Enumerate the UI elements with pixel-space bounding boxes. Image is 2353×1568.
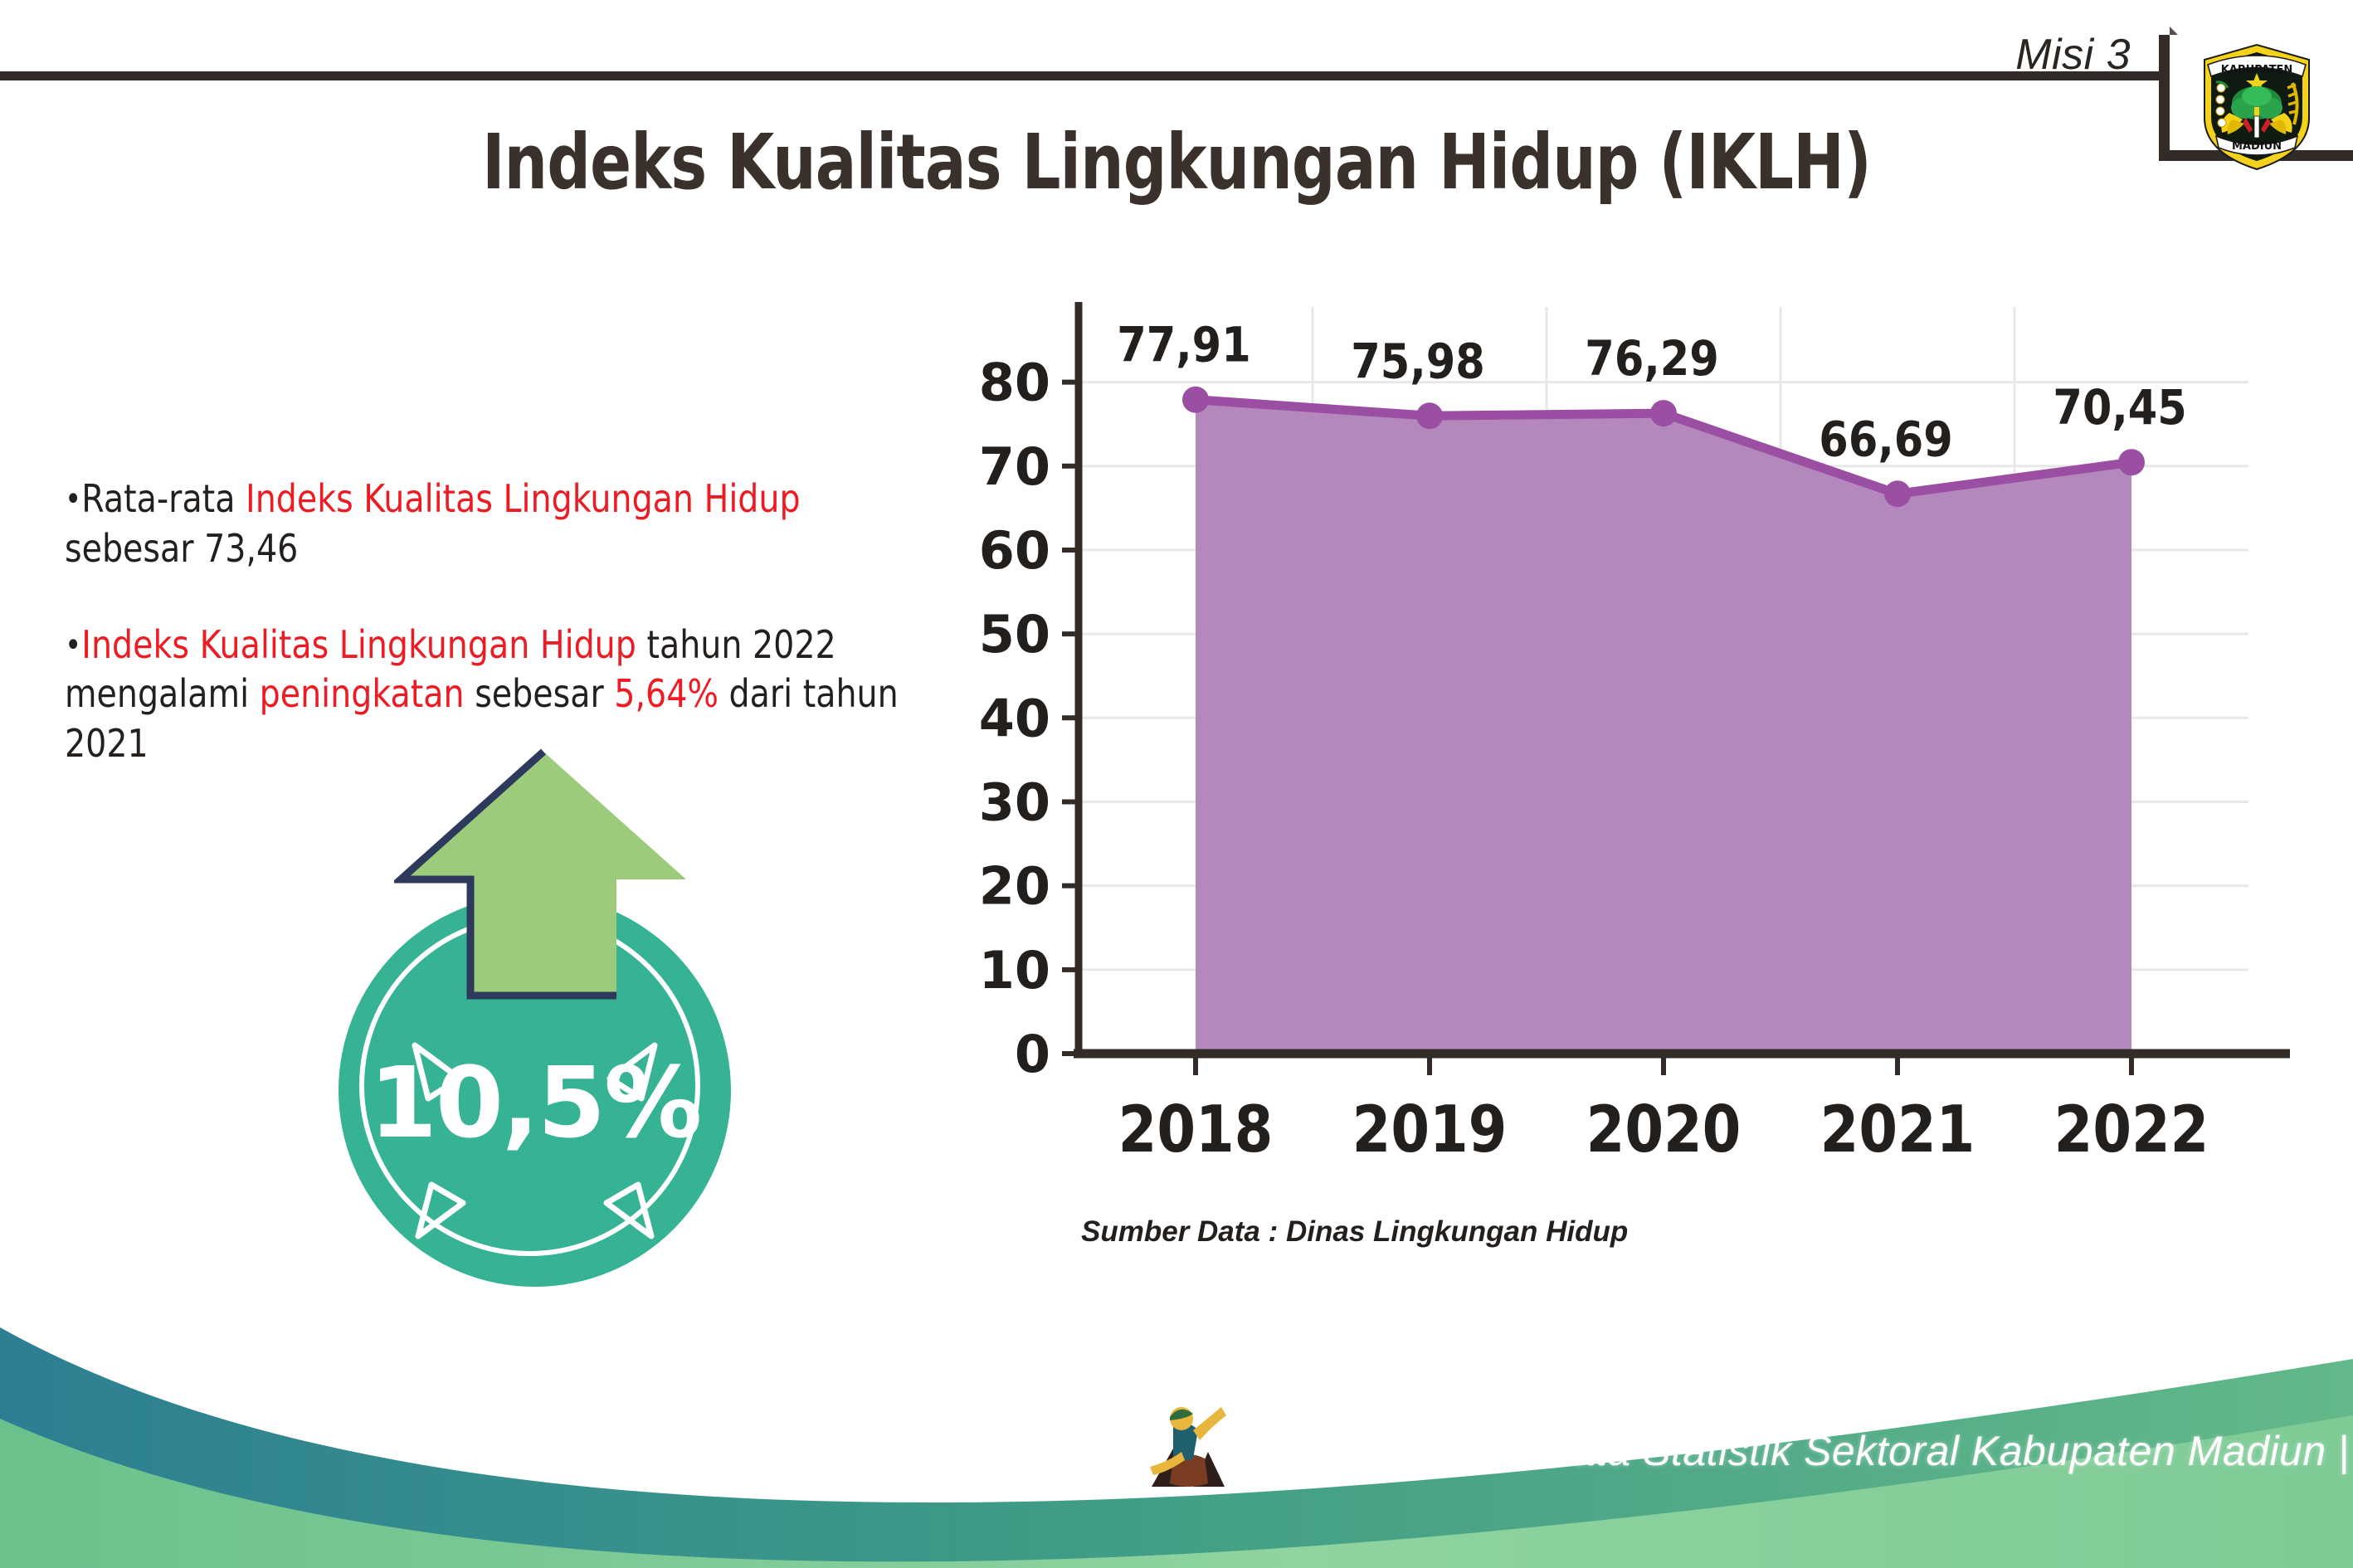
chart-data-label: 66,69 bbox=[1819, 411, 1952, 467]
header-divider-line bbox=[0, 71, 2169, 80]
bullet-item: •Rata-rata Indeks Kualitas Lingkungan Hi… bbox=[65, 475, 907, 574]
chart-data-label: 76,29 bbox=[1585, 330, 1718, 387]
chart-y-tick-label: 60 bbox=[979, 520, 1050, 581]
chart-y-tick-label: 10 bbox=[979, 940, 1050, 1001]
chart-point-marker bbox=[1650, 400, 1677, 426]
chart-point-marker bbox=[1182, 387, 1209, 413]
chart-y-tick-label: 0 bbox=[1015, 1024, 1050, 1084]
chart-x-tick-label: 2018 bbox=[1118, 1092, 1274, 1167]
footer-caption: Media Infografis Data Statistik Sektoral… bbox=[1228, 1427, 2350, 1475]
footer-wave: Media Infografis Data Statistik Sektoral… bbox=[0, 1294, 2353, 1568]
chart-point-marker bbox=[2118, 449, 2145, 475]
bullet-text-segment: peningkatan bbox=[260, 671, 465, 716]
chart-data-label: 77,91 bbox=[1117, 317, 1250, 373]
badge-percent-label: 10,5% bbox=[339, 1045, 731, 1160]
madiun-dancer-figure bbox=[1143, 1397, 1233, 1495]
chart-y-tick-label: 80 bbox=[979, 353, 1050, 413]
page-title: Indeks Kualitas Lingkungan Hidup (IKLH) bbox=[236, 118, 2118, 207]
header-bracket-vertical bbox=[2159, 35, 2170, 161]
bullet-text-segment: sebesar bbox=[465, 671, 615, 716]
chart-y-tick-label: 40 bbox=[979, 688, 1050, 748]
chart-data-label: 75,98 bbox=[1351, 333, 1484, 389]
chart-y-tick-label: 30 bbox=[979, 772, 1050, 832]
chart-source-note: Sumber Data : Dinas Lingkungan Hidup bbox=[1081, 1215, 1628, 1249]
bullet-text-segment: sebesar 73,46 bbox=[65, 526, 298, 571]
chart-y-tick-label: 20 bbox=[979, 856, 1050, 917]
up-arrow-icon bbox=[394, 747, 693, 1037]
bullet-text-segment: Indeks Kualitas Lingkungan Hidup bbox=[246, 476, 801, 521]
kabupaten-madiun-logo: KABUPATEN bbox=[2195, 37, 2319, 173]
chart-point-marker bbox=[1416, 402, 1443, 429]
chart-x-tick-label: 2021 bbox=[1820, 1092, 1975, 1167]
bullet-text-segment: 5,64% bbox=[614, 671, 719, 716]
growth-badge: 10,5% bbox=[319, 747, 751, 1211]
svg-text:MADIUN: MADIUN bbox=[2232, 140, 2282, 153]
bullet-text-segment: Indeks Kualitas Lingkungan Hidup bbox=[81, 622, 636, 667]
chart-y-tick-label: 50 bbox=[979, 604, 1050, 665]
chart-point-marker bbox=[1884, 480, 1911, 507]
infographic-page: Misi 3 KABUPATEN bbox=[0, 0, 2353, 1568]
chart-x-tick-label: 2019 bbox=[1352, 1092, 1508, 1167]
bullet-marker: • bbox=[65, 480, 81, 519]
misi-label: Misi 3 bbox=[2015, 30, 2131, 80]
bullet-marker: • bbox=[65, 626, 81, 665]
chart-area-fill bbox=[1196, 400, 2131, 1054]
chart-y-tick-label: 70 bbox=[979, 436, 1050, 497]
bullet-text-segment: Rata-rata bbox=[81, 476, 246, 521]
iklh-area-chart: 77,9175,9876,2966,6970,45010203040506070… bbox=[954, 274, 2298, 1253]
chart-x-tick-label: 2020 bbox=[1586, 1092, 1742, 1167]
chart-data-label: 70,45 bbox=[2053, 379, 2186, 436]
chart-x-tick-label: 2022 bbox=[2054, 1092, 2209, 1167]
